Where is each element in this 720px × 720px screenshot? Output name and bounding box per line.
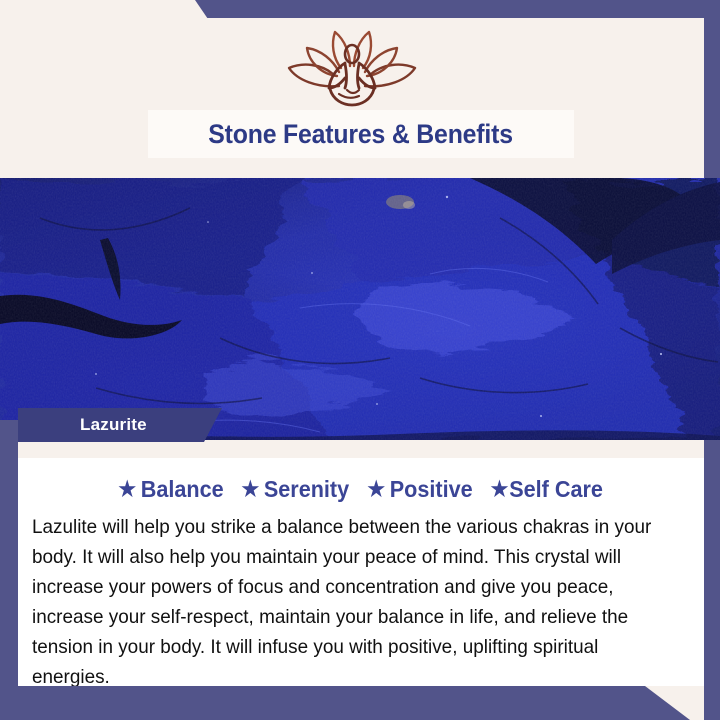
star-icon: ★: [119, 479, 137, 500]
benefit-item-self-care: ★ Self Care: [491, 476, 603, 503]
decorative-left-bar: [0, 420, 18, 720]
benefit-label: Positive: [390, 476, 473, 503]
benefit-item-positive: ★ Positive: [367, 476, 472, 503]
page-title-band: Stone Features & Benefits: [148, 110, 574, 158]
benefit-item-serenity: ★ Serenity: [242, 476, 350, 503]
benefit-label: Balance: [141, 476, 224, 503]
star-icon: ★: [491, 479, 509, 500]
stone-photo: [0, 178, 720, 440]
stone-description: Lazulite will help you strike a balance …: [32, 512, 672, 692]
lotus-meditation-logo-icon: [277, 26, 427, 115]
card-top-tint: [18, 440, 704, 458]
decorative-bottom-bar: [0, 686, 720, 720]
benefits-card: ★ Balance ★ Serenity ★ Positive ★ Self C…: [18, 440, 704, 686]
benefit-label: Serenity: [264, 476, 349, 503]
benefit-item-balance: ★ Balance: [119, 476, 224, 503]
page-title: Stone Features & Benefits: [209, 119, 514, 150]
stone-benefits-infographic: BUDDHA STONES Stone Features & Benefits: [0, 0, 720, 720]
star-icon: ★: [242, 479, 260, 500]
benefit-label: Self Care: [509, 476, 603, 503]
star-icon: ★: [367, 479, 385, 500]
benefits-list: ★ Balance ★ Serenity ★ Positive ★ Self C…: [18, 476, 704, 503]
stone-name-banner: Lazurite: [18, 408, 222, 442]
stone-name: Lazurite: [18, 415, 147, 435]
